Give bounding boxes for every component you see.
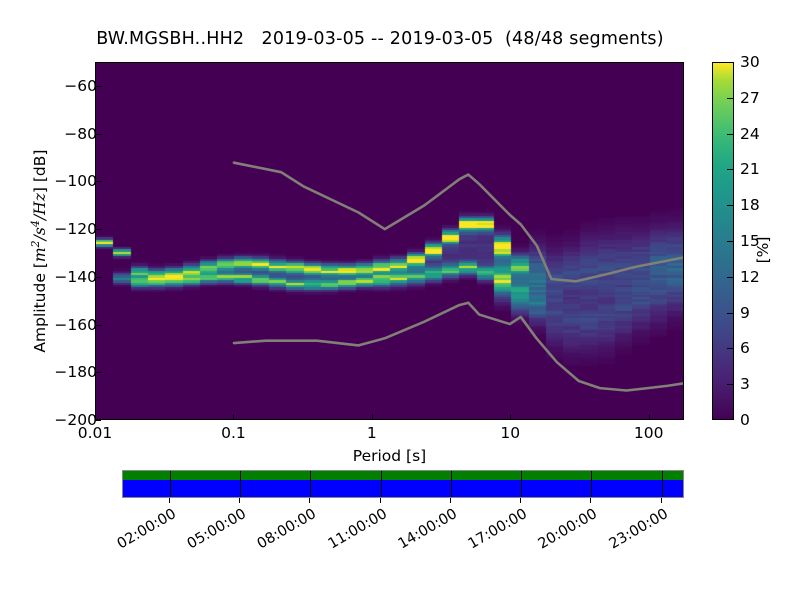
colorbar-tick-label: 24 [740,125,760,143]
colorbar-tick-label: 0 [740,411,750,429]
y-axis-tick-mark [95,86,101,87]
y-axis-tick-mark [95,181,101,182]
y-axis-tick-mark [95,372,101,373]
colorbar-tick-label: 6 [740,339,750,357]
time-axis-tick-label: 23:00:00 [598,506,670,557]
high-noise-model-curve [234,163,683,282]
y-axis-tick-mark [95,229,101,230]
time-axis-tick-mark [590,498,591,503]
y-axis-tick-label: −140 [0,268,97,286]
colorbar-tick-mark [727,384,733,385]
colorbar-tick-mark [727,98,733,99]
x-axis-tick-mark [510,414,511,420]
x-axis-label: Period [s] [95,447,684,465]
colorbar-tick-label: 12 [740,268,760,286]
x-axis-tick-mark [233,414,234,420]
y-axis-tick-mark [95,134,101,135]
low-noise-model-curve [234,303,683,391]
coverage-tick-mark [240,471,241,497]
time-axis-tick-mark [169,498,170,503]
x-axis-tick-label: 1 [367,424,377,442]
y-axis-tick-label: −180 [0,363,97,381]
y-axis-tick-label: −100 [0,172,97,190]
time-axis-tick-label: 02:00:00 [107,506,179,557]
time-axis-tick-mark [380,498,381,503]
noise-model-layer [96,63,683,419]
colorbar-tick-label: 18 [740,196,760,214]
colorbar-tick-mark [727,241,733,242]
colorbar-tick-label: 27 [740,89,760,107]
time-axis-tick-mark [661,498,662,503]
colorbar-tick-label: 30 [740,53,760,71]
time-axis-tick-mark [450,498,451,503]
time-axis-tick-label: 05:00:00 [177,506,249,557]
time-axis-tick-label: 17:00:00 [458,506,530,557]
colorbar-tick-mark [727,348,733,349]
y-axis-tick-label: −80 [0,125,97,143]
coverage-tick-mark [170,471,171,497]
time-axis-tick-label: 08:00:00 [247,506,319,557]
colorbar-tick-label: 9 [740,304,750,322]
time-axis-tick-label: 20:00:00 [528,506,600,557]
x-axis-tick-mark [372,414,373,420]
coverage-tick-mark [451,471,452,497]
time-axis-tick-label: 14:00:00 [388,506,460,557]
coverage-green-band [123,471,683,480]
ppsd-plot-area [95,62,684,420]
time-axis-tick-label: 11:00:00 [317,506,389,557]
colorbar-tick-mark [727,134,733,135]
coverage-tick-mark [521,471,522,497]
y-axis-tick-mark [95,420,101,421]
time-axis-tick-mark [239,498,240,503]
colorbar-tick-mark [727,277,733,278]
coverage-tick-mark [310,471,311,497]
figure-title: BW.MGSBH..HH2 2019-03-05 -- 2019-03-05 (… [0,29,760,49]
colorbar-tick-mark [727,169,733,170]
time-axis-tick-mark [309,498,310,503]
colorbar-tick-mark [727,313,733,314]
x-axis-tick-mark [95,414,96,420]
x-axis-tick-label: 100 [634,424,664,442]
x-axis-tick-label: 0.1 [221,424,246,442]
x-axis-tick-mark [649,414,650,420]
coverage-blue-band [123,480,683,497]
x-axis-tick-label: 10 [500,424,520,442]
ppsd-figure: BW.MGSBH..HH2 2019-03-05 -- 2019-03-05 (… [0,0,800,600]
y-axis-tick-label: −160 [0,316,97,334]
y-axis-tick-label: −120 [0,220,97,238]
colorbar-tick-label: 21 [740,160,760,178]
y-axis-tick-mark [95,277,101,278]
colorbar-tick-label: 15 [740,232,760,250]
time-axis-tick-mark [520,498,521,503]
x-axis-tick-label: 0.01 [78,424,113,442]
y-axis-tick-label: −60 [0,77,97,95]
colorbar-tick-label: 3 [740,375,750,393]
y-axis-tick-mark [95,325,101,326]
coverage-tick-mark [591,471,592,497]
data-coverage-bar [122,470,684,498]
coverage-tick-mark [662,471,663,497]
colorbar-tick-mark [727,205,733,206]
coverage-tick-mark [381,471,382,497]
